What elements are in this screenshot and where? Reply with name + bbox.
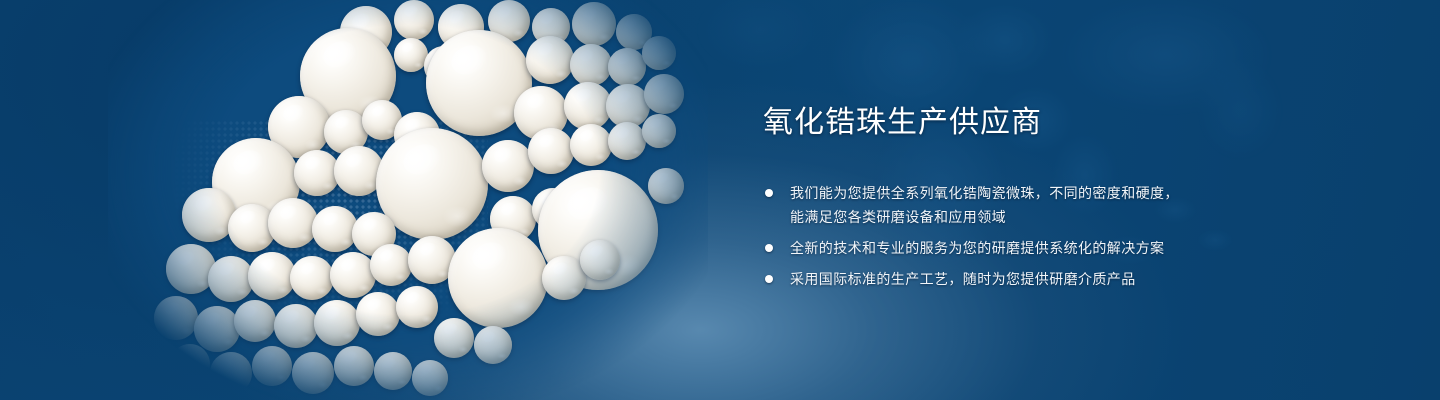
bead	[642, 114, 676, 148]
bead	[394, 0, 434, 40]
bead	[642, 36, 676, 70]
banner-headline: 氧化锆珠生产供应商	[763, 104, 1363, 142]
bead	[274, 304, 318, 348]
bead	[268, 198, 318, 248]
bead	[170, 344, 210, 384]
bead	[396, 286, 438, 328]
banner-bullet-list: 我们能为您提供全系列氧化锆陶瓷微珠，不同的密度和硬度， 能满足您各类研磨设备和应…	[763, 182, 1363, 290]
bead	[448, 228, 548, 328]
bead	[434, 318, 474, 358]
bullet-item: 全新的技术和专业的服务为您的研磨提供系统化的解决方案	[763, 237, 1363, 259]
bead	[234, 300, 276, 342]
bead	[374, 352, 412, 390]
bead	[356, 292, 400, 336]
bullet-dot-icon	[765, 189, 773, 197]
bead	[334, 346, 374, 386]
bead	[608, 122, 646, 160]
bead	[482, 140, 534, 192]
bead	[608, 48, 646, 86]
bullet-line: 我们能为您提供全系列氧化锆陶瓷微珠，不同的密度和硬度，	[790, 182, 1363, 204]
bead	[528, 128, 574, 174]
bead	[248, 252, 296, 300]
bullet-line: 能满足您各类研磨设备和应用领域	[790, 206, 1363, 228]
bead	[194, 306, 240, 352]
banner-copy: 氧化锆珠生产供应商 我们能为您提供全系列氧化锆陶瓷微珠，不同的密度和硬度， 能满…	[763, 104, 1363, 290]
bullet-line: 全新的技术和专业的服务为您的研磨提供系统化的解决方案	[790, 237, 1363, 259]
bead	[412, 360, 448, 396]
bead	[526, 36, 574, 84]
bullet-dot-icon	[765, 275, 773, 283]
bead	[570, 124, 612, 166]
bead	[314, 300, 360, 346]
bead	[564, 82, 612, 130]
bullet-line: 采用国际标准的生产工艺，随时为您提供研磨介质产品	[790, 268, 1363, 290]
bead	[290, 256, 334, 300]
bead	[330, 252, 376, 298]
bullet-dot-icon	[765, 244, 773, 252]
bead	[154, 296, 198, 340]
bead	[370, 244, 412, 286]
bead	[644, 74, 684, 114]
bullet-item: 我们能为您提供全系列氧化锆陶瓷微珠，不同的密度和硬度， 能满足您各类研磨设备和应…	[763, 182, 1363, 228]
bead	[292, 352, 334, 394]
zirconia-beads-photo	[108, 0, 708, 400]
bead	[648, 168, 684, 204]
hero-banner: 氧化锆珠生产供应商 我们能为您提供全系列氧化锆陶瓷微珠，不同的密度和硬度， 能满…	[0, 0, 1440, 400]
bead	[210, 352, 252, 394]
bead	[208, 256, 254, 302]
bead	[572, 2, 616, 46]
bead	[252, 346, 292, 386]
bullet-item: 采用国际标准的生产工艺，随时为您提供研磨介质产品	[763, 268, 1363, 290]
bead	[570, 44, 612, 86]
bead	[312, 206, 358, 252]
bead	[580, 240, 620, 280]
bead	[474, 326, 512, 364]
bead	[394, 38, 428, 72]
